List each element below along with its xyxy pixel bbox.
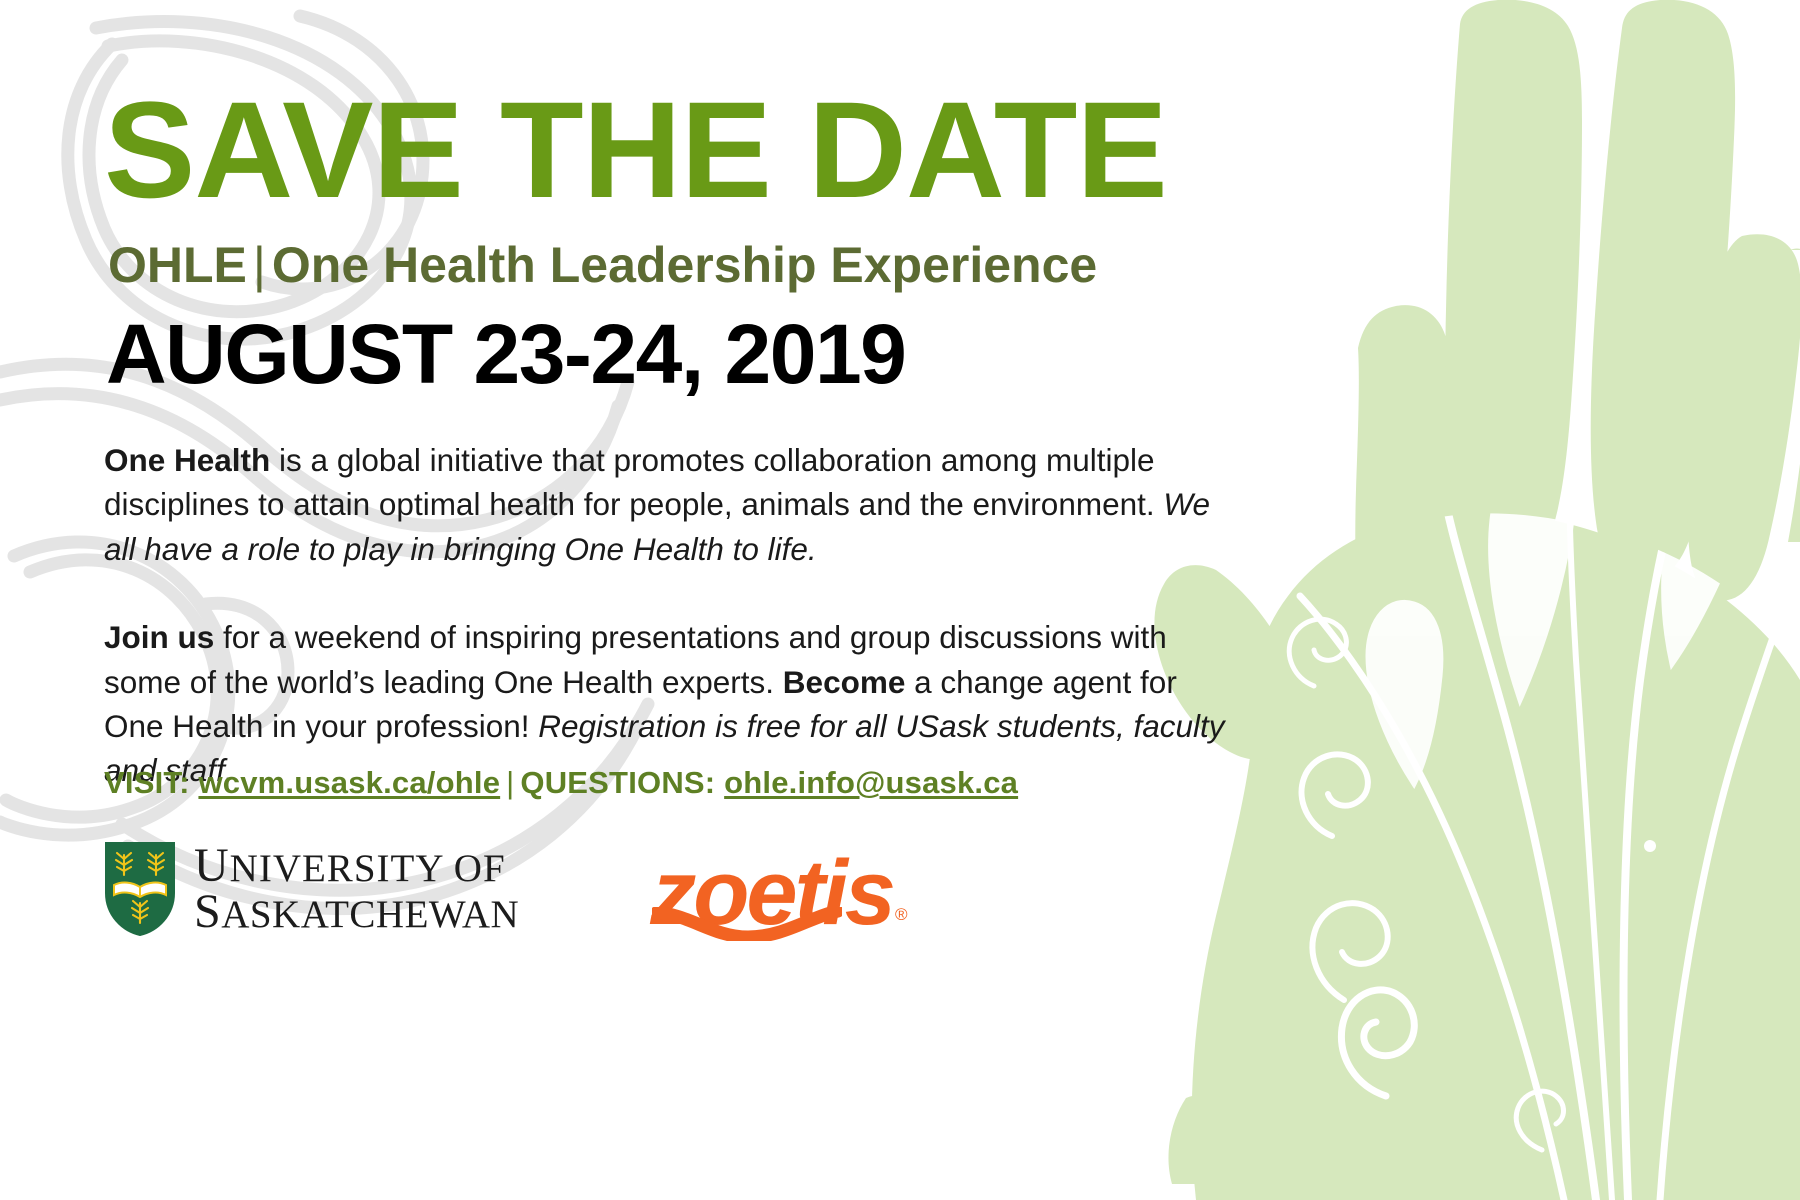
zoetis-logo: zoetis® <box>650 839 902 939</box>
usask-line-2: SASKATCHEWAN <box>194 889 519 935</box>
event-subtitle: OHLE|One Health Leadership Experience <box>108 240 1097 290</box>
website-link[interactable]: wcvm.usask.ca/ohle <box>198 765 500 800</box>
university-of-saskatchewan-logo: UNIVERSITY OF SASKATCHEWAN <box>104 839 519 939</box>
questions-label: QUESTIONS: <box>520 765 715 800</box>
zoetis-swoosh-icon <box>652 907 842 941</box>
join-us-lead: Join us <box>104 619 214 655</box>
poster-canvas: SAVE THE DATE OHLE|One Health Leadership… <box>0 0 1800 1200</box>
event-description: One Health is a global initiative that p… <box>104 438 1234 793</box>
usask-wordmark: UNIVERSITY OF SASKATCHEWAN <box>194 843 519 935</box>
sponsor-logo-row: UNIVERSITY OF SASKATCHEWAN zoetis® <box>104 834 902 944</box>
zoetis-wordmark: zoetis® <box>650 847 902 939</box>
registered-trademark-icon: ® <box>895 905 905 924</box>
contact-separator: | <box>500 765 520 800</box>
usask-line-1: UNIVERSITY OF <box>194 843 519 889</box>
one-health-lead: One Health <box>104 442 270 478</box>
page-title: SAVE THE DATE <box>104 82 1167 219</box>
usask-shield-icon <box>104 841 176 937</box>
email-link[interactable]: ohle.info@usask.ca <box>724 765 1018 800</box>
visit-label: VISIT: <box>104 765 190 800</box>
become-lead: Become <box>783 664 906 700</box>
event-acronym: OHLE <box>108 237 247 293</box>
subtitle-separator: | <box>247 237 272 293</box>
contact-line: VISIT: wcvm.usask.ca/ohle|QUESTIONS: ohl… <box>104 765 1018 801</box>
paragraph-one: One Health is a global initiative that p… <box>104 438 1234 571</box>
event-full-name: One Health Leadership Experience <box>272 237 1097 293</box>
event-date: AUGUST 23-24, 2019 <box>106 312 905 396</box>
